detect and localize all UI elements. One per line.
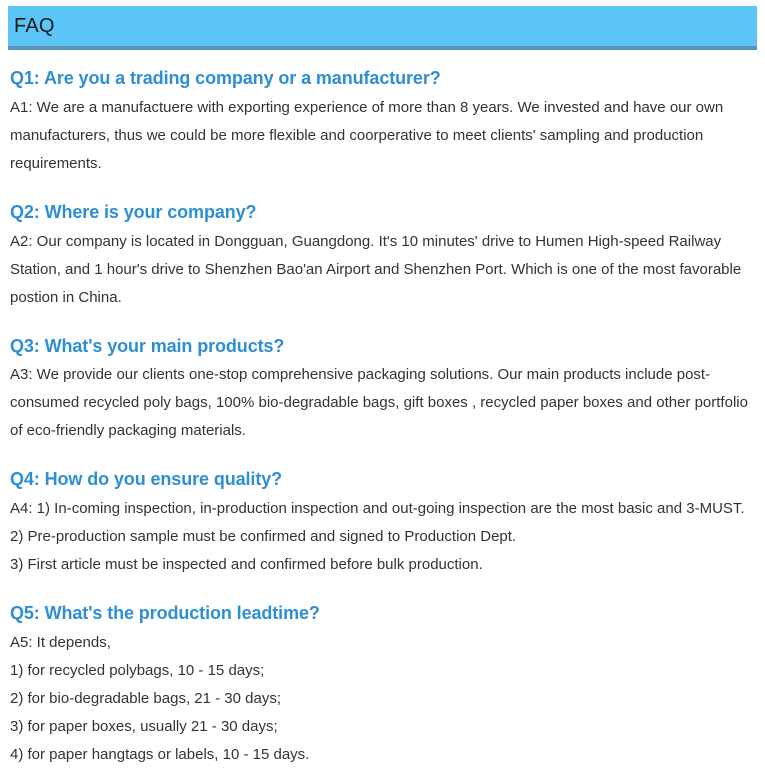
faq-answer-line: 3) for paper boxes, usually 21 - 30 days… (10, 713, 752, 741)
faq-answer-line: A5: It depends, (10, 629, 752, 657)
faq-item: Q3: What's your main products? A3: We pr… (10, 334, 752, 446)
faq-answer-line: 1) for recycled polybags, 10 - 15 days; (10, 657, 752, 685)
faq-answer-line: A4: 1) In-coming inspection, in-producti… (10, 495, 752, 523)
faq-question: Q1: Are you a trading company or a manuf… (10, 66, 752, 91)
faq-answer-line: A2: Our company is located in Dongguan, … (10, 228, 752, 312)
faq-question: Q4: How do you ensure quality? (10, 467, 752, 492)
faq-answer: A4: 1) In-coming inspection, in-producti… (10, 495, 752, 579)
faq-answer: A3: We provide our clients one-stop comp… (10, 361, 752, 445)
faq-question: Q5: What's the production leadtime? (10, 601, 752, 626)
faq-answer-line: 2) for bio-degradable bags, 21 - 30 days… (10, 685, 752, 713)
faq-item: Q2: Where is your company? A2: Our compa… (10, 200, 752, 312)
faq-answer-line: 2) Pre-production sample must be confirm… (10, 523, 752, 551)
faq-page: FAQ Q1: Are you a trading company or a m… (0, 0, 765, 748)
faq-banner: FAQ (8, 6, 757, 50)
faq-answer: A2: Our company is located in Dongguan, … (10, 228, 752, 312)
faq-answer-line: A1: We are a manufactuere with exporting… (10, 94, 752, 178)
faq-list: Q1: Are you a trading company or a manuf… (10, 66, 752, 769)
faq-item: Q4: How do you ensure quality? A4: 1) In… (10, 467, 752, 579)
faq-question: Q3: What's your main products? (10, 334, 752, 359)
faq-item: Q1: Are you a trading company or a manuf… (10, 66, 752, 178)
faq-item: Q5: What's the production leadtime? A5: … (10, 601, 752, 769)
faq-answer-line: 4) for paper hangtags or labels, 10 - 15… (10, 741, 752, 769)
faq-answer-line: 3) First article must be inspected and c… (10, 551, 752, 579)
page-title: FAQ (8, 16, 55, 36)
faq-answer: A1: We are a manufactuere with exporting… (10, 94, 752, 178)
faq-answer-line: A3: We provide our clients one-stop comp… (10, 361, 752, 445)
faq-answer: A5: It depends, 1) for recycled polybags… (10, 629, 752, 769)
faq-question: Q2: Where is your company? (10, 200, 752, 225)
